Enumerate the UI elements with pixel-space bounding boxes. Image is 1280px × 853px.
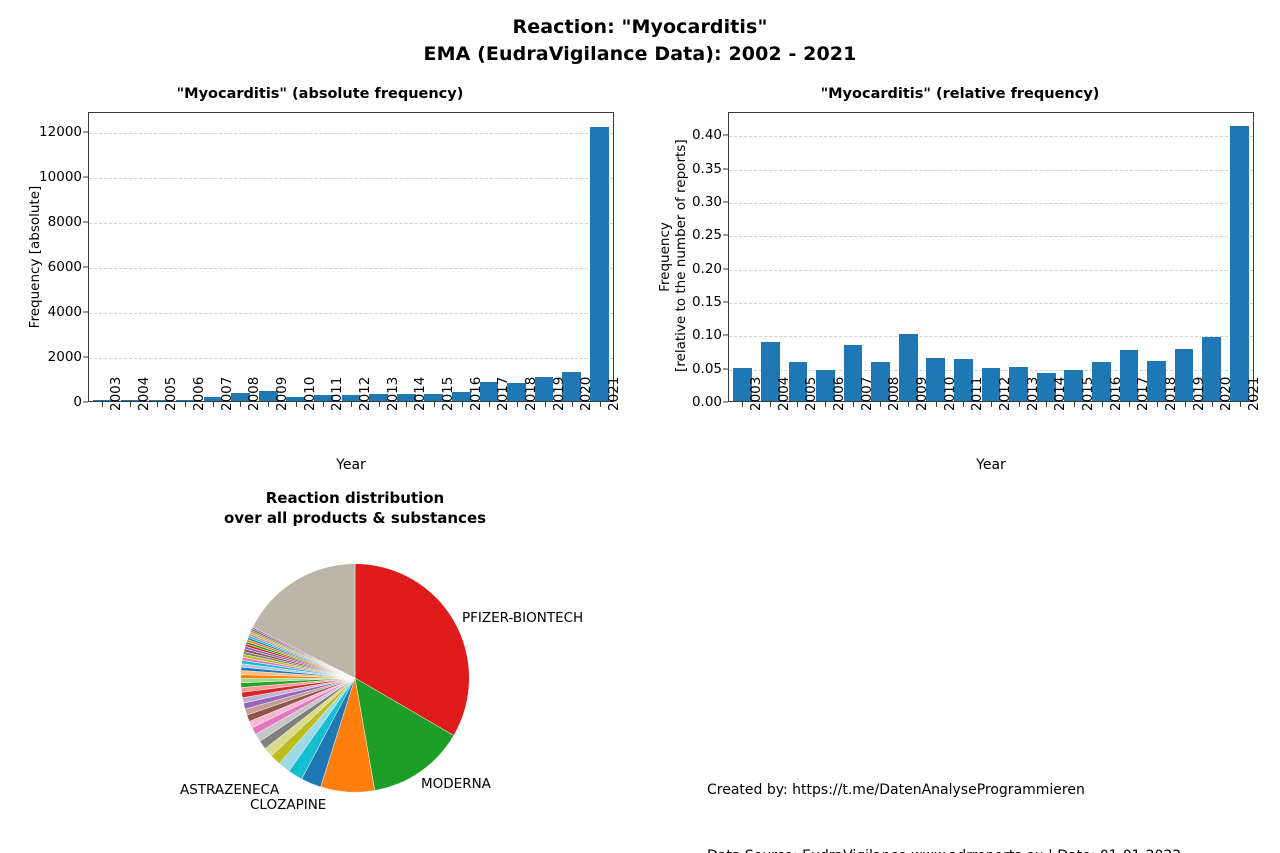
x-tick-label-2004: 2004 bbox=[776, 377, 792, 411]
absolute-y-axis-label: Frequency [absolute] bbox=[27, 142, 43, 372]
x-tick-label-2018: 2018 bbox=[523, 377, 539, 411]
x-tick-mark bbox=[1046, 402, 1047, 407]
x-tick-mark bbox=[825, 402, 826, 407]
x-tick-label-2007: 2007 bbox=[859, 377, 875, 411]
x-tick-label-2017: 2017 bbox=[1135, 377, 1151, 411]
bar-slot bbox=[337, 113, 365, 401]
x-tick-mark bbox=[517, 402, 518, 407]
bar-series bbox=[729, 113, 1253, 401]
bar-slot bbox=[392, 113, 420, 401]
x-tick-mark bbox=[797, 402, 798, 407]
x-tick-mark bbox=[963, 402, 964, 407]
x-tick-label-2020: 2020 bbox=[578, 377, 594, 411]
x-tick-mark bbox=[296, 402, 297, 407]
x-tick-mark bbox=[880, 402, 881, 407]
bar-slot bbox=[784, 113, 812, 401]
x-tick-mark bbox=[1240, 402, 1241, 407]
x-tick-label-2013: 2013 bbox=[385, 377, 401, 411]
x-tick-label-2005: 2005 bbox=[163, 377, 179, 411]
y-tick-mark bbox=[723, 402, 728, 403]
x-tick-mark bbox=[770, 402, 771, 407]
x-tick-label-2015: 2015 bbox=[1080, 377, 1096, 411]
bar-slot bbox=[757, 113, 785, 401]
bar-slot bbox=[475, 113, 503, 401]
x-tick-label-2011: 2011 bbox=[969, 377, 985, 411]
x-tick-label-2021: 2021 bbox=[1246, 377, 1262, 411]
x-tick-mark bbox=[462, 402, 463, 407]
x-tick-mark bbox=[213, 402, 214, 407]
relative-x-axis-label: Year bbox=[728, 457, 1254, 473]
bar-slot bbox=[1032, 113, 1060, 401]
bar-2021 bbox=[1230, 126, 1249, 401]
y-tick-mark bbox=[83, 132, 88, 133]
relative-y-axis-label-line1: Frequency bbox=[657, 142, 673, 372]
y-tick-mark bbox=[83, 267, 88, 268]
x-tick-label-2014: 2014 bbox=[412, 377, 428, 411]
x-tick-label-2008: 2008 bbox=[246, 377, 262, 411]
x-tick-mark bbox=[351, 402, 352, 407]
y-tick-mark bbox=[723, 235, 728, 236]
x-tick-mark bbox=[102, 402, 103, 407]
y-tick-mark bbox=[83, 177, 88, 178]
bar-slot bbox=[172, 113, 200, 401]
y-tick-mark bbox=[83, 222, 88, 223]
x-tick-mark bbox=[379, 402, 380, 407]
x-tick-mark bbox=[1212, 402, 1213, 407]
x-tick-label-2016: 2016 bbox=[468, 377, 484, 411]
x-tick-label-2020: 2020 bbox=[1218, 377, 1234, 411]
y-tick-mark bbox=[83, 357, 88, 358]
bar-slot bbox=[558, 113, 586, 401]
bar-slot bbox=[89, 113, 117, 401]
bar-slot bbox=[530, 113, 558, 401]
bar-slot bbox=[310, 113, 338, 401]
pie-label-clozapine: CLOZAPINE bbox=[250, 797, 326, 813]
x-tick-label-2019: 2019 bbox=[551, 377, 567, 411]
relative-frequency-panel: "Myocarditis" (relative frequency) 0.000… bbox=[640, 86, 1280, 476]
y-tick-mark bbox=[723, 302, 728, 303]
x-tick-label-2006: 2006 bbox=[191, 377, 207, 411]
x-tick-label-2011: 2011 bbox=[329, 377, 345, 411]
y-tick-mark bbox=[723, 368, 728, 369]
x-tick-label-2007: 2007 bbox=[219, 377, 235, 411]
bar-slot bbox=[227, 113, 255, 401]
bar-slot bbox=[282, 113, 310, 401]
x-tick-mark bbox=[130, 402, 131, 407]
x-tick-label-2017: 2017 bbox=[495, 377, 511, 411]
bar-slot bbox=[977, 113, 1005, 401]
y-tick-label: 0 bbox=[30, 394, 82, 410]
pie-chart bbox=[235, 558, 475, 798]
bar-slot bbox=[729, 113, 757, 401]
bar-slot bbox=[1115, 113, 1143, 401]
figure-title-line1: Reaction: "Myocarditis" bbox=[0, 14, 1280, 41]
x-tick-label-2008: 2008 bbox=[886, 377, 902, 411]
x-tick-mark bbox=[572, 402, 573, 407]
bar-slot bbox=[117, 113, 145, 401]
x-tick-label-2012: 2012 bbox=[357, 377, 373, 411]
bar-slot bbox=[1060, 113, 1088, 401]
bar-slot bbox=[1005, 113, 1033, 401]
absolute-chart-title: "Myocarditis" (absolute frequency) bbox=[0, 86, 640, 102]
bar-slot bbox=[812, 113, 840, 401]
x-tick-label-2010: 2010 bbox=[302, 377, 318, 411]
y-tick-mark bbox=[723, 268, 728, 269]
y-tick-mark bbox=[723, 168, 728, 169]
relative-y-axis-label-line2: [relative to the number of reports] bbox=[673, 142, 689, 372]
figure-canvas: Reaction: "Myocarditis" EMA (EudraVigila… bbox=[0, 0, 1280, 853]
bar-slot bbox=[950, 113, 978, 401]
x-tick-label-2010: 2010 bbox=[942, 377, 958, 411]
y-tick-mark bbox=[723, 202, 728, 203]
y-tick-mark bbox=[83, 312, 88, 313]
x-tick-mark bbox=[1074, 402, 1075, 407]
pie-label-moderna: MODERNA bbox=[421, 776, 491, 792]
x-tick-label-2012: 2012 bbox=[997, 377, 1013, 411]
bar-slot bbox=[1225, 113, 1253, 401]
x-tick-label-2018: 2018 bbox=[1163, 377, 1179, 411]
figure-title-line2: EMA (EudraVigilance Data): 2002 - 2021 bbox=[0, 41, 1280, 68]
x-tick-mark bbox=[1129, 402, 1130, 407]
relative-chart-title: "Myocarditis" (relative frequency) bbox=[640, 86, 1280, 102]
x-tick-label-2003: 2003 bbox=[748, 377, 764, 411]
x-tick-mark bbox=[489, 402, 490, 407]
x-tick-label-2009: 2009 bbox=[914, 377, 930, 411]
x-tick-mark bbox=[1157, 402, 1158, 407]
x-tick-mark bbox=[185, 402, 186, 407]
x-tick-label-2005: 2005 bbox=[803, 377, 819, 411]
x-tick-mark bbox=[908, 402, 909, 407]
x-tick-label-2014: 2014 bbox=[1052, 377, 1068, 411]
bar-2021 bbox=[590, 127, 609, 401]
bar-slot bbox=[867, 113, 895, 401]
x-tick-mark bbox=[268, 402, 269, 407]
absolute-plot-area bbox=[88, 112, 614, 402]
bar-slot bbox=[1088, 113, 1116, 401]
y-tick-label: 12000 bbox=[30, 124, 82, 140]
y-tick-mark bbox=[723, 135, 728, 136]
pie-title-line2: over all products & substances bbox=[180, 508, 530, 528]
x-tick-mark bbox=[434, 402, 435, 407]
x-tick-label-2015: 2015 bbox=[440, 377, 456, 411]
relative-y-axis-label: Frequency [relative to the number of rep… bbox=[657, 142, 689, 372]
x-tick-mark bbox=[1019, 402, 1020, 407]
x-tick-mark bbox=[157, 402, 158, 407]
pie-label-astrazeneca: ASTRAZENECA bbox=[180, 782, 279, 798]
figure-footer: Created by: https://t.me/DatenAnalysePro… bbox=[707, 735, 1181, 853]
x-tick-label-2004: 2004 bbox=[136, 377, 152, 411]
bar-slot bbox=[1143, 113, 1171, 401]
pie-title-line1: Reaction distribution bbox=[180, 488, 530, 508]
x-tick-label-2019: 2019 bbox=[1191, 377, 1207, 411]
bar-series bbox=[89, 113, 613, 401]
pie-slices bbox=[235, 558, 475, 798]
x-tick-label-2013: 2013 bbox=[1025, 377, 1041, 411]
x-tick-mark bbox=[323, 402, 324, 407]
bar-slot bbox=[1198, 113, 1226, 401]
bar-slot bbox=[585, 113, 613, 401]
x-tick-mark bbox=[600, 402, 601, 407]
x-tick-mark bbox=[991, 402, 992, 407]
footer-created-by: Created by: https://t.me/DatenAnalysePro… bbox=[707, 779, 1181, 801]
x-tick-mark bbox=[406, 402, 407, 407]
y-tick-label: 0.00 bbox=[670, 394, 722, 410]
x-tick-label-2006: 2006 bbox=[831, 377, 847, 411]
bar-slot bbox=[254, 113, 282, 401]
x-tick-mark bbox=[853, 402, 854, 407]
y-tick-mark bbox=[723, 335, 728, 336]
x-tick-mark bbox=[1185, 402, 1186, 407]
x-tick-mark bbox=[240, 402, 241, 407]
bar-slot bbox=[839, 113, 867, 401]
x-tick-mark bbox=[742, 402, 743, 407]
absolute-frequency-panel: "Myocarditis" (absolute frequency) 02000… bbox=[0, 86, 640, 476]
x-tick-label-2021: 2021 bbox=[606, 377, 622, 411]
x-tick-mark bbox=[1102, 402, 1103, 407]
pie-label-pfizer-biontech: PFIZER-BIONTECH bbox=[462, 610, 583, 626]
bar-slot bbox=[448, 113, 476, 401]
x-tick-label-2003: 2003 bbox=[108, 377, 124, 411]
bar-slot bbox=[503, 113, 531, 401]
x-tick-mark bbox=[936, 402, 937, 407]
bar-slot bbox=[1170, 113, 1198, 401]
x-tick-label-2009: 2009 bbox=[274, 377, 290, 411]
bar-slot bbox=[144, 113, 172, 401]
bar-slot bbox=[365, 113, 393, 401]
x-tick-label-2016: 2016 bbox=[1108, 377, 1124, 411]
relative-plot-area bbox=[728, 112, 1254, 402]
figure-title: Reaction: "Myocarditis" EMA (EudraVigila… bbox=[0, 14, 1280, 68]
absolute-x-axis-label: Year bbox=[88, 457, 614, 473]
y-tick-mark bbox=[83, 402, 88, 403]
x-tick-mark bbox=[545, 402, 546, 407]
bar-slot bbox=[922, 113, 950, 401]
bar-slot bbox=[199, 113, 227, 401]
bar-slot bbox=[420, 113, 448, 401]
bar-slot bbox=[894, 113, 922, 401]
pie-chart-title: Reaction distribution over all products … bbox=[180, 488, 530, 528]
footer-data-source: Data Source: EudraVigilance www.adrrepor… bbox=[707, 845, 1181, 853]
